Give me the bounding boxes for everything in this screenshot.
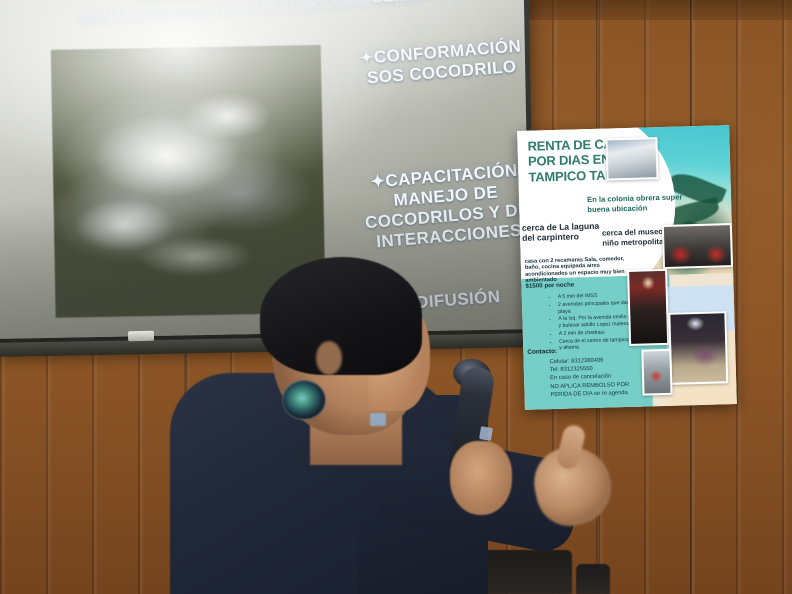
screenshot-root: PROTOCOLO DE ATENCIÓN A CONTINGENCIAS HU…	[0, 0, 792, 594]
ad-description: casa con 2 recamaras Sala, comedor, baño…	[525, 256, 634, 291]
chest-badge-icon	[370, 413, 386, 426]
ad-description-text: casa con 2 recamaras Sala, comedor, baño…	[525, 256, 625, 284]
house-exterior-photo	[605, 137, 658, 180]
presenter-mic-hand	[450, 441, 512, 515]
slide-bullet-1: ✦CONFORMACIÓN SOS COCODRILO	[350, 36, 530, 90]
ad-contact-details: Celular: 8312380406 Tel: 8312325550 En c…	[550, 355, 655, 399]
chair-back	[576, 564, 610, 594]
microphone-indicator	[479, 426, 493, 441]
shoulder-patch-icon	[282, 380, 326, 420]
bedroom-chandelier-photo	[668, 311, 728, 385]
ad-contact-heading: Contacto:	[527, 348, 557, 356]
presenter-ear	[316, 341, 342, 375]
ad-nearby-left: cerca de La laguna del carpintero	[522, 221, 607, 244]
presenter	[120, 255, 540, 594]
slide-bullet-1-label: CONFORMACIÓN SOS COCODRILO	[366, 36, 521, 87]
interior-detail-photo	[641, 349, 672, 396]
red-sofa-living-room-photo	[662, 223, 733, 269]
rental-advertisement: RENTA DE CASA POR DIAS EN TAMPICO TAMPS.…	[517, 125, 737, 410]
ad-subtitle: En la colonia obrera super buena ubicaci…	[587, 192, 697, 214]
kitchen-dining-photo	[627, 269, 669, 346]
